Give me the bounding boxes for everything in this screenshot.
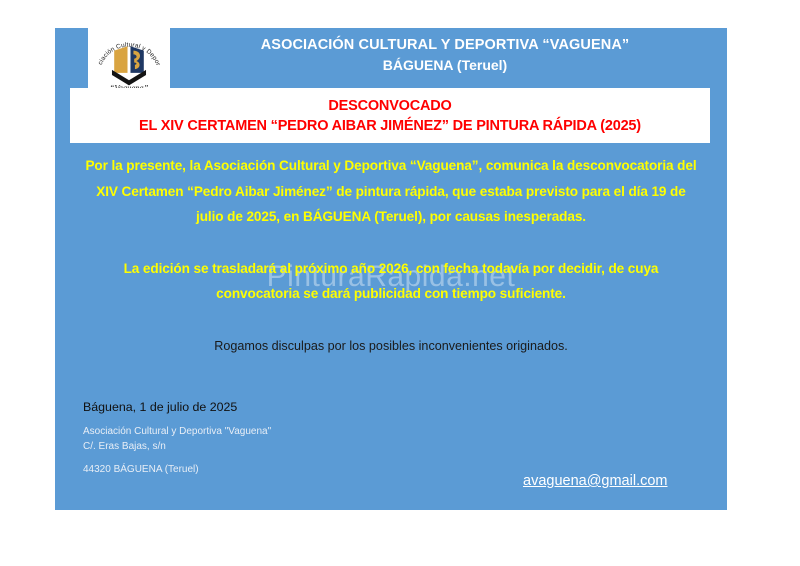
footer-email-wrapper: avaguena@gmail.com: [523, 472, 723, 490]
body-paragraph-3: Rogamos disculpas por los posibles incon…: [83, 337, 699, 355]
footer-street: C/. Eras Bajas, s/n: [83, 440, 699, 455]
header-title-group: ASOCIACIÓN CULTURAL Y DEPORTIVA “VAGUENA…: [175, 36, 715, 75]
footer-org-name: Asociación Cultural y Deportiva "Vaguena…: [83, 425, 699, 440]
announcement-body: Por la presente, la Asociación Cultural …: [83, 153, 699, 355]
body-paragraph-2: La edición se trasladará al próximo año …: [83, 256, 699, 307]
organization-title: ASOCIACIÓN CULTURAL Y DEPORTIVA “VAGUENA…: [175, 36, 715, 55]
organization-location: BÁGUENA (Teruel): [175, 55, 715, 75]
blue-content-panel: Asociación Cultural y Deportiva “Vaguena…: [55, 28, 727, 510]
contact-email-link[interactable]: avaguena@gmail.com: [523, 473, 668, 489]
body-paragraph-1: Por la presente, la Asociación Cultural …: [83, 153, 699, 230]
document-page: Asociación Cultural y Deportiva “Vaguena…: [0, 0, 800, 566]
association-logo-icon: Asociación Cultural y Deportiva “Vaguena…: [92, 24, 166, 98]
cancellation-label: DESCONVOCADO: [328, 96, 451, 116]
announcement-title-band: DESCONVOCADO EL XIV CERTAMEN “PEDRO AIBA…: [70, 88, 710, 143]
event-title: EL XIV CERTAMEN “PEDRO AIBAR JIMÉNEZ” DE…: [139, 116, 641, 136]
footer-date: Báguena, 1 de julio de 2025: [83, 398, 699, 416]
document-header: Asociación Cultural y Deportiva “Vaguena…: [55, 28, 727, 88]
document-footer: Báguena, 1 de julio de 2025 Asociación C…: [83, 398, 699, 478]
